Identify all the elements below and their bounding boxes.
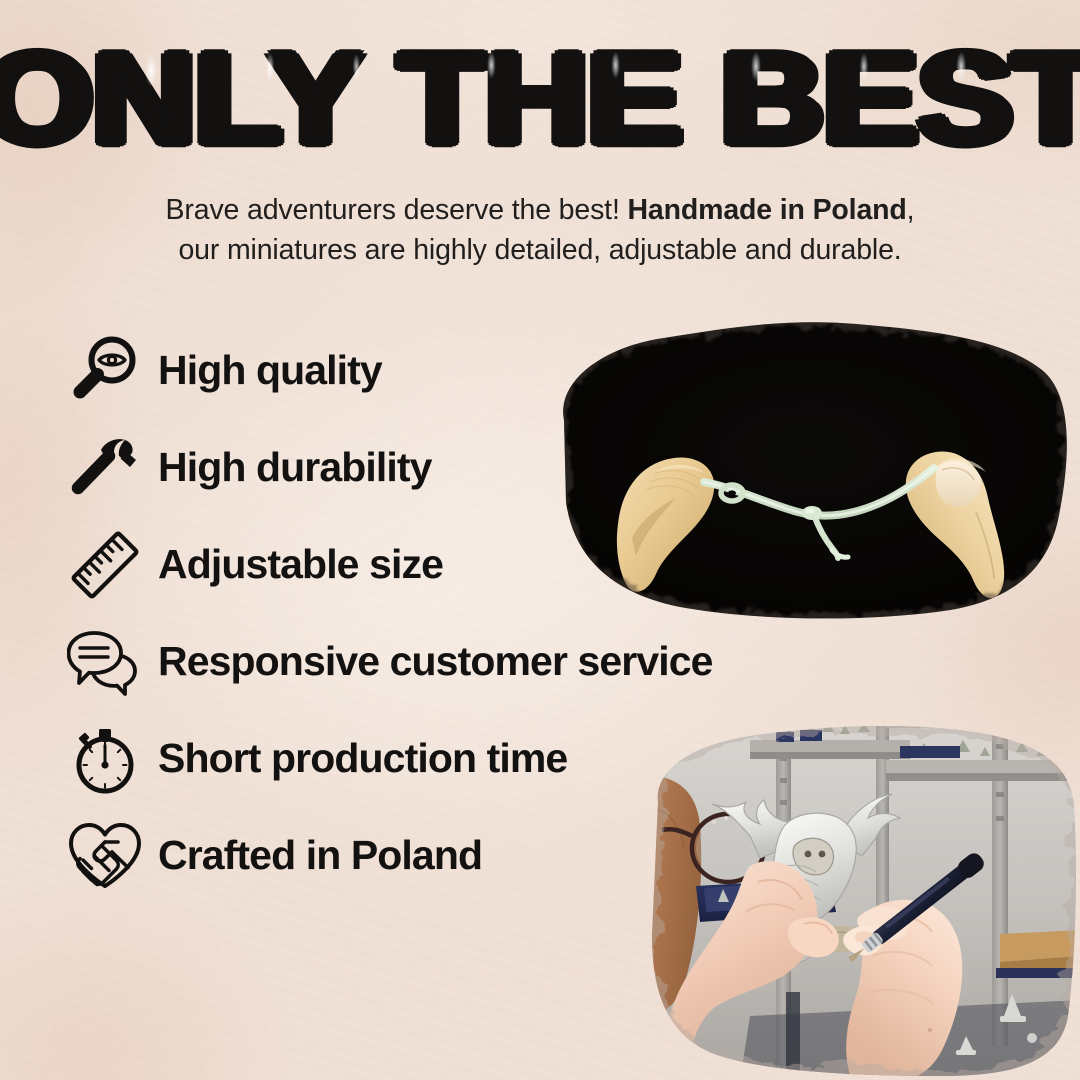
feature-label: High durability [158,447,432,488]
stopwatch-icon [62,719,148,799]
feature-label: Adjustable size [158,544,443,585]
magnifier-eye-icon [62,331,148,411]
feature-label: High quality [158,350,382,391]
subtitle-highlight-handmade: Handmade in Poland [628,194,907,226]
subtitle-line2: our miniatures are highly detailed, adju… [178,234,901,266]
feature-label: Short production time [158,738,567,779]
feature-label: Responsive customer service [158,641,713,682]
hammer-icon [62,428,148,508]
feature-label: Crafted in Poland [158,835,482,876]
infographic-canvas: ONLY THE BEST Brave adventurers deserve … [0,0,1080,1080]
speech-bubbles-icon [62,622,148,702]
page-title: ONLY THE BEST [0,34,1080,165]
photo-workshop: Hands holding a white unpainted winged d… [600,716,1080,1080]
subtitle-line1-tail: , [907,194,915,226]
photo-durability: Two fingers stretching a pale green flex… [536,312,1080,624]
feature-item-customer-service: Responsive customer service [62,613,802,710]
ruler-icon [62,525,148,605]
handshake-heart-icon [62,816,148,896]
subtitle: Brave adventurers deserve the best! Hand… [90,190,990,271]
subtitle-line1-lead: Brave adventurers deserve the best! [166,194,628,226]
